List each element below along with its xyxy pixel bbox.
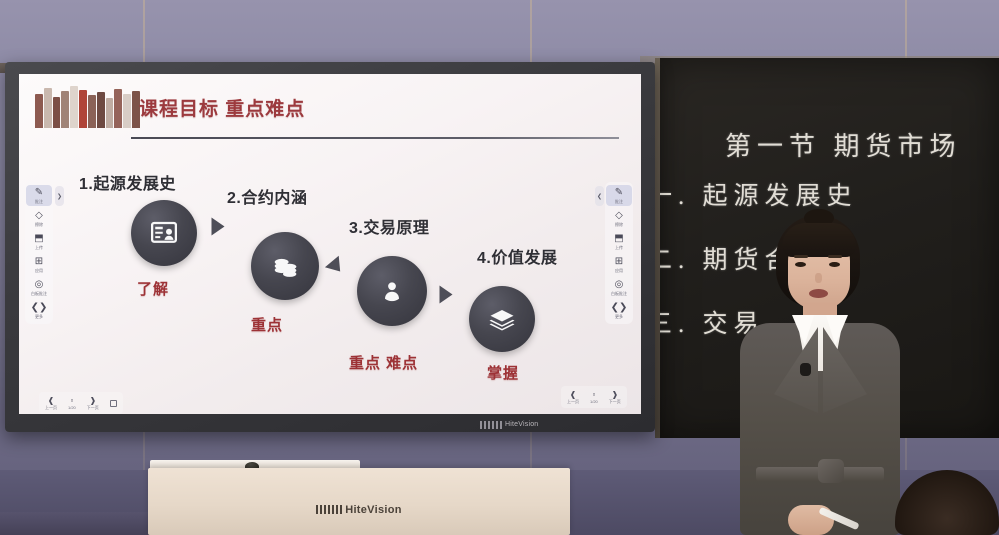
podium-brand-name: HiteVision: [345, 504, 402, 516]
coins-stack-icon: [269, 250, 301, 282]
right-toolbar-handle[interactable]: ❮: [595, 186, 604, 206]
apps-tool-caption: 应用: [615, 268, 623, 273]
presenter-brow-right: [828, 255, 842, 258]
step-circle-2[interactable]: [251, 232, 319, 300]
whiteboard-icon: ◎: [615, 279, 624, 290]
chevron-right-icon: ❱: [611, 390, 618, 399]
step-circle-1[interactable]: [131, 200, 197, 266]
step-red-label-4: 掌握: [487, 362, 519, 383]
blackboard-item-1: 一. 起源发展史: [647, 176, 858, 212]
flow-arrow-1: [212, 218, 225, 236]
display-brand-name: HiteVision: [505, 421, 538, 428]
pen-tool-caption: 批注: [35, 199, 43, 204]
upload-tool-right[interactable]: ⬒ 上传: [606, 231, 632, 252]
step-label-2: 2.合约内涵: [227, 184, 307, 208]
document-presentation-icon: [149, 218, 179, 248]
slide-title: 课程目标 重点难点: [139, 94, 305, 121]
location-person-pin-icon: [377, 276, 407, 306]
prev-page-caption: 上一页: [45, 405, 57, 410]
prev-page-button[interactable]: ❰ 上一页: [45, 396, 57, 410]
upload-icon: ⬒: [34, 233, 43, 244]
blackboard-frame: [655, 58, 660, 438]
pen-icon: ✎: [35, 187, 43, 198]
pen-icon: ✎: [615, 187, 623, 198]
wall-upper-band: [0, 0, 999, 62]
eraser-tool-caption: 擦除: [35, 222, 43, 227]
apps-tool-caption: 应用: [35, 268, 43, 273]
left-toolbar[interactable]: ✎ 批注 ◇ 擦除 ⬒ 上传 ⊞ 应用 ◎ 白板批注: [25, 182, 53, 324]
lapel-microphone-icon: [800, 363, 811, 376]
next-page-caption: 下一页: [609, 399, 621, 404]
book: [79, 90, 87, 128]
display-screen[interactable]: 课程目标 重点难点 1.起源发展史 了解 2.合约内涵: [19, 74, 641, 414]
bookshelf-decoration: [35, 86, 140, 128]
slide-title-wrap: 课程目标 重点难点: [139, 94, 305, 121]
upload-icon: ⬒: [614, 233, 623, 244]
flow-arrow-2: [325, 256, 347, 278]
title-underline: [131, 137, 619, 139]
classroom-scene: 第一节 期货市场 一. 起源发展史 二. 期货合约 三. 交易 HiteVisi…: [0, 0, 999, 535]
prev-page-button-right[interactable]: ❰ 上一页: [567, 390, 579, 404]
page-indicator-caption: 1/20: [68, 405, 76, 410]
next-page-button-right[interactable]: ❱ 下一页: [609, 390, 621, 404]
chevron-right-icon: ❱: [89, 396, 96, 405]
whiteboard-tool-right[interactable]: ◎ 白板批注: [606, 277, 632, 298]
apps-tool-right[interactable]: ⊞ 应用: [606, 254, 632, 275]
step-circle-3[interactable]: [357, 256, 427, 326]
more-tool-right[interactable]: ❮❯ 更多: [606, 300, 632, 321]
whiteboard-tool-caption: 白板批注: [31, 291, 47, 296]
page-indicator: ▫ 1/20: [68, 396, 76, 410]
next-page-caption: 下一页: [87, 405, 99, 410]
book: [61, 91, 69, 128]
more-icon: ❮❯: [31, 302, 48, 313]
book: [53, 97, 61, 128]
interactive-flat-panel[interactable]: HiteVision 课程目标 重点难点: [5, 62, 655, 432]
book: [70, 86, 78, 128]
pen-tool-right[interactable]: ✎ 批注: [606, 185, 632, 206]
eraser-tool[interactable]: ◇ 擦除: [26, 208, 52, 229]
book: [97, 92, 105, 128]
page-dot-icon: ▫: [592, 390, 595, 399]
step-label-1: 1.起源发展史: [79, 170, 176, 194]
next-page-button[interactable]: ❱ 下一页: [87, 396, 99, 410]
whiteboard-tool-caption: 白板批注: [611, 291, 627, 296]
page-indicator-caption: 1/20: [590, 399, 598, 404]
presenter-eye-left: [795, 262, 806, 267]
more-tool-caption: 更多: [35, 314, 43, 319]
book: [44, 88, 52, 128]
hitevision-mark-icon: [316, 505, 342, 514]
hitevision-mark-icon: [480, 421, 502, 429]
presenter-belt-knot: [818, 459, 844, 483]
bottom-left-navbar[interactable]: ❰ 上一页 ▫ 1/20 ❱ 下一页: [39, 392, 123, 414]
book: [106, 98, 114, 128]
right-toolbar[interactable]: ✎ 批注 ◇ 擦除 ⬒ 上传 ⊞ 应用 ◎ 白板批注: [605, 182, 633, 324]
display-brand-logo: HiteVision: [480, 419, 600, 430]
podium: HiteVision: [148, 468, 570, 535]
eraser-icon: ◇: [615, 210, 623, 221]
book: [114, 89, 122, 128]
eraser-icon: ◇: [35, 210, 43, 221]
step-red-label-1: 了解: [137, 278, 169, 299]
presenter: [718, 215, 923, 535]
bottom-right-navbar[interactable]: ❰ 上一页 ▫ 1/20 ❱ 下一页: [561, 386, 627, 408]
eraser-tool-right[interactable]: ◇ 擦除: [606, 208, 632, 229]
apps-grid-icon: ⊞: [615, 256, 623, 267]
stop-square-icon[interactable]: [110, 400, 117, 407]
more-tool-caption: 更多: [615, 314, 623, 319]
book: [123, 94, 131, 128]
prev-page-caption: 上一页: [567, 399, 579, 404]
pen-tool-caption: 批注: [615, 199, 623, 204]
presenter-brow-left: [794, 255, 808, 258]
blackboard-heading: 第一节 期货市场: [725, 126, 962, 163]
page-dot-icon: ▫: [70, 396, 73, 405]
upload-tool[interactable]: ⬒ 上传: [26, 231, 52, 252]
presenter-nose: [815, 273, 822, 283]
step-red-label-2: 重点: [251, 314, 283, 335]
book: [35, 94, 43, 128]
apps-grid-icon: ⊞: [35, 256, 43, 267]
book: [88, 95, 96, 128]
whiteboard-icon: ◎: [35, 279, 44, 290]
chevron-left-icon: ❰: [570, 390, 577, 399]
presenter-mouth: [809, 289, 828, 298]
pen-tool[interactable]: ✎ 批注: [26, 185, 52, 206]
left-toolbar-handle[interactable]: ❯: [55, 186, 64, 206]
upload-tool-caption: 上传: [615, 245, 623, 250]
eraser-tool-caption: 擦除: [615, 222, 623, 227]
presenter-eye-right: [829, 262, 840, 267]
whiteboard-tool[interactable]: ◎ 白板批注: [26, 277, 52, 298]
chevron-left-icon: ❰: [48, 396, 55, 405]
podium-brand-logo: HiteVision: [148, 504, 570, 516]
upload-tool-caption: 上传: [35, 245, 43, 250]
step-circle-4[interactable]: [469, 286, 535, 352]
step-red-label-3: 重点 难点: [349, 352, 418, 373]
page-indicator-right: ▫ 1/20: [590, 390, 598, 404]
flow-arrow-3: [440, 286, 453, 304]
more-icon: ❮❯: [611, 302, 628, 313]
step-label-4: 4.价值发展: [477, 244, 557, 268]
floor-strip: [0, 512, 160, 535]
more-tool[interactable]: ❮❯ 更多: [26, 300, 52, 321]
presenter-hair-front: [782, 223, 856, 257]
layers-stack-icon: [487, 304, 517, 334]
apps-tool[interactable]: ⊞ 应用: [26, 254, 52, 275]
step-label-3: 3.交易原理: [349, 214, 429, 238]
